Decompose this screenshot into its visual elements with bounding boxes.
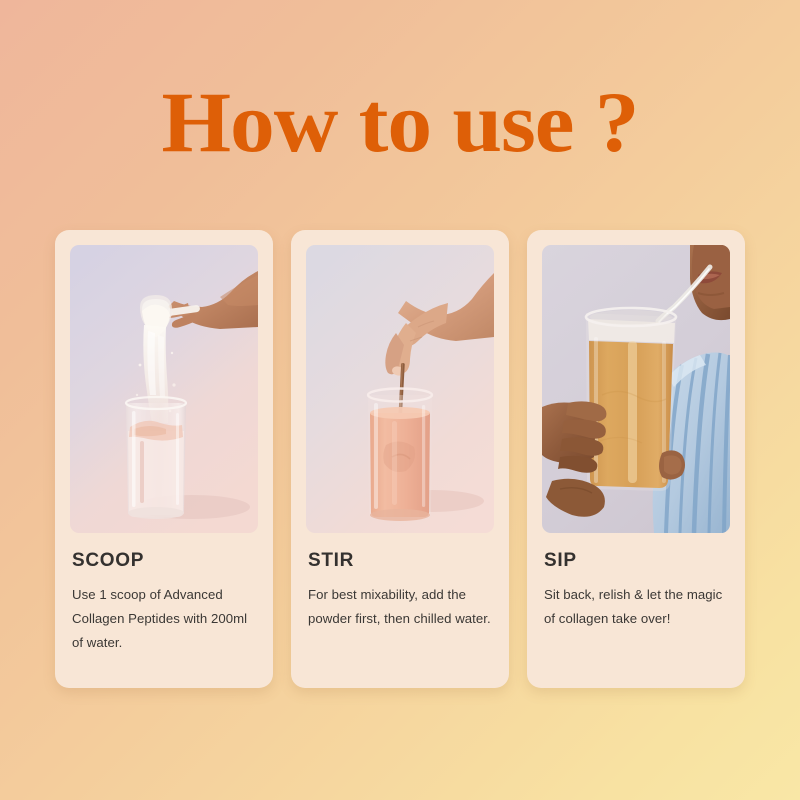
step-card-scoop: SCOOP Use 1 scoop of Advanced Collagen P…: [55, 230, 273, 688]
page-title: How to use ?: [0, 76, 800, 168]
step-description: Sit back, relish & let the magic of coll…: [544, 583, 728, 631]
step-description: For best mixability, add the powder firs…: [308, 583, 492, 631]
step-description: Use 1 scoop of Advanced Collagen Peptide…: [72, 583, 256, 655]
steps-card-row: SCOOP Use 1 scoop of Advanced Collagen P…: [55, 230, 745, 688]
step-title: SIP: [544, 550, 728, 572]
step-card-stir: STIR For best mixability, add the powder…: [291, 230, 509, 688]
sip-drink-photo: [542, 245, 730, 533]
scoop-powder-into-glass-photo: [70, 245, 258, 533]
step-text-block: SCOOP Use 1 scoop of Advanced Collagen P…: [70, 533, 258, 655]
step-title: SCOOP: [72, 550, 256, 572]
step-text-block: SIP Sit back, relish & let the magic of …: [542, 533, 730, 631]
title-container: How to use ?: [0, 76, 800, 168]
step-title: STIR: [308, 550, 492, 572]
step-text-block: STIR For best mixability, add the powder…: [306, 533, 494, 631]
stir-drink-photo: [306, 245, 494, 533]
step-card-sip: SIP Sit back, relish & let the magic of …: [527, 230, 745, 688]
